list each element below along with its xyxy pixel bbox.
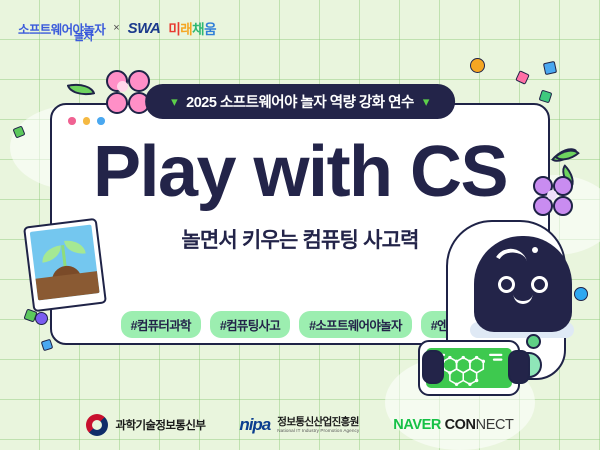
window-dot-blue: [97, 117, 105, 125]
softwareya-nolja-logo: 소프트웨어야놀자 놀자: [18, 19, 105, 38]
robot-chest-button: [526, 334, 541, 349]
connect-wordmark-bold: CON: [445, 417, 476, 433]
robot-hand-right: [508, 350, 530, 384]
swa-logo: SWA: [128, 20, 161, 37]
robot-mascot: [432, 212, 582, 392]
nipa-logo-kr: 정보통신산업진흥원: [277, 416, 359, 428]
hashtag-pill: #컴퓨터과학: [121, 311, 201, 338]
mirae-chaeum-logo: 미래채움: [168, 18, 216, 38]
msit-logo: 과학기술정보통신부: [86, 414, 205, 436]
chevron-leaf-icon: ▾: [423, 95, 429, 108]
window-dot-yellow: [83, 117, 91, 125]
event-banner-text: 2025 소프트웨어야 놀자 역량 강화 연수: [186, 91, 414, 112]
sprout-soil: [35, 271, 99, 300]
msit-logo-text: 과학기술정보통신부: [115, 417, 205, 433]
robot-eye-right: [531, 276, 548, 293]
partner-logo-bar: 소프트웨어야놀자 놀자 × SWA 미래채움: [18, 18, 216, 38]
mirae-char-3: 채: [192, 22, 204, 37]
robot-head-gloss-dot: [532, 247, 538, 253]
nipa-logo-en: National IT Industry Promotion Agency: [277, 428, 359, 433]
mirae-char-2: 래: [180, 22, 192, 37]
robot-head: [474, 236, 572, 332]
event-banner: ▾ 2025 소프트웨어야 놀자 역량 강화 연수 ▾: [145, 84, 455, 119]
robot-body: [446, 220, 566, 380]
hashtag-pill: #컴퓨팅사고: [210, 311, 290, 338]
nipa-logo-texts: 정보통신산업진흥원 National IT Industry Promotion…: [277, 416, 359, 433]
sprout-leaf-right: [64, 238, 86, 255]
footer-logos: 과학기술정보통신부 nipa 정보통신산업진흥원 National IT Ind…: [0, 414, 600, 436]
robot-eye-left: [498, 276, 515, 293]
naver-wordmark: NAVER: [393, 417, 441, 433]
softwareya-nolja-logo-subtext: 놀자: [74, 28, 93, 44]
hashtag-pill: #소프트웨어야놀자: [299, 311, 412, 338]
window-dots: [68, 117, 105, 125]
robot-head-gloss: [490, 245, 528, 273]
confetti-square-blue: [543, 61, 557, 75]
sprout-illustration: [30, 224, 100, 300]
chevron-leaf-icon: ▾: [171, 95, 177, 108]
mirae-char-1: 미: [168, 22, 180, 37]
window-dot-red: [68, 117, 76, 125]
connect-wordmark-light: NECT: [476, 417, 514, 433]
logo-separator-icon: ×: [113, 22, 119, 34]
mirae-char-4: 움: [204, 22, 216, 37]
nipa-wordmark: nipa: [239, 415, 270, 435]
nipa-logo: nipa 정보통신산업진흥원 National IT Industry Prom…: [239, 415, 359, 435]
robot-smile: [514, 294, 533, 304]
taeguk-icon: [86, 414, 108, 436]
robot-hand-left: [422, 350, 444, 384]
confetti-circle-orange: [470, 58, 485, 73]
sprout-photo-card: [23, 218, 107, 312]
purple-flower-icon: [533, 176, 573, 216]
sprout-leaf-left: [41, 245, 63, 262]
pink-flower-icon: [105, 69, 151, 115]
poster-canvas: 소프트웨어야놀자 놀자 × SWA 미래채움: [0, 0, 600, 450]
page-title: Play with CS: [0, 136, 600, 208]
naver-connect-logo: NAVER CONNECT: [393, 417, 513, 433]
